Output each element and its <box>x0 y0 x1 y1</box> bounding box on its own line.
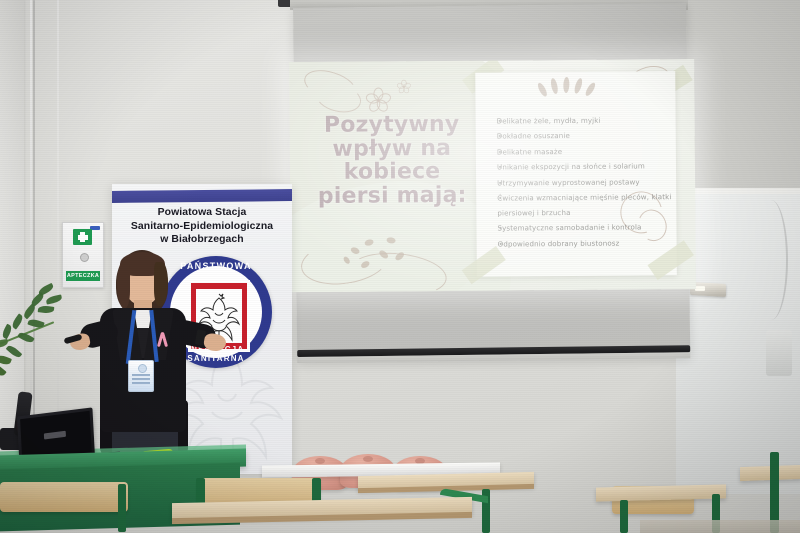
slide-bullet-list: Delikatne żele, mydła, myjki Dokładne os… <box>486 113 675 253</box>
model-nipple <box>363 456 373 462</box>
chair-frame <box>118 484 126 532</box>
presenter-hair-side <box>117 262 130 308</box>
bullet-item: Ćwiczenia wzmacniające mięśnie pleców, k… <box>497 190 674 220</box>
bullet-item: Systematyczne samobadanie i kontrola <box>497 220 674 236</box>
bullet-item: Delikatne żele, mydła, myjki <box>497 113 674 129</box>
photo-scene: Pozytywny wpływ na kobiece piersi mają: … <box>0 0 800 533</box>
flower-icon <box>367 87 387 107</box>
wall-object <box>766 330 792 376</box>
slide-title: Pozytywny wpływ na kobiece piersi mają: <box>306 113 479 208</box>
badge-logo-icon <box>138 364 147 373</box>
bullet-item: Dokładne osuszanie <box>497 129 674 145</box>
banner-title-line-1: Powiatowa Stacja <box>118 206 286 220</box>
presenter-id-badge <box>128 360 154 392</box>
projected-slide: Pozytywny wpływ na kobiece piersi mają: … <box>289 59 696 292</box>
floor-edge <box>640 520 800 533</box>
chair-backrest <box>0 482 128 512</box>
banner-title-line-3: w Białobrzegach <box>118 233 286 247</box>
model-nipple <box>315 458 325 464</box>
green-cross-icon <box>73 229 92 245</box>
chair-frame <box>620 500 628 533</box>
bullet-item: Utrzymywanie wyprostowanej postawy <box>497 175 674 191</box>
bullet-item: Odpowiednio dobrany biustonosz <box>498 236 675 252</box>
pink-ribbon-pin-icon <box>158 332 166 348</box>
bullet-list: Delikatne żele, mydła, myjki Dokładne os… <box>486 113 675 252</box>
bullet-item: Delikatne masaże <box>497 144 674 160</box>
projection-screen: Pozytywny wpływ na kobiece piersi mają: … <box>293 3 690 363</box>
banner-stripe <box>112 189 292 203</box>
potted-plant <box>0 262 68 392</box>
wall-seam <box>57 0 59 470</box>
marker-tray-highlight <box>695 286 705 291</box>
banner-title: Powiatowa Stacja Sanitarno-Epidemiologic… <box>118 206 286 247</box>
presenter-hand-right <box>203 332 228 353</box>
bullet-item: Unikanie ekspozycji na słońce i solarium <box>497 160 674 176</box>
banner-title-line-2: Sanitarno-Epidemiologiczna <box>118 220 286 234</box>
flower-icon <box>398 80 409 91</box>
